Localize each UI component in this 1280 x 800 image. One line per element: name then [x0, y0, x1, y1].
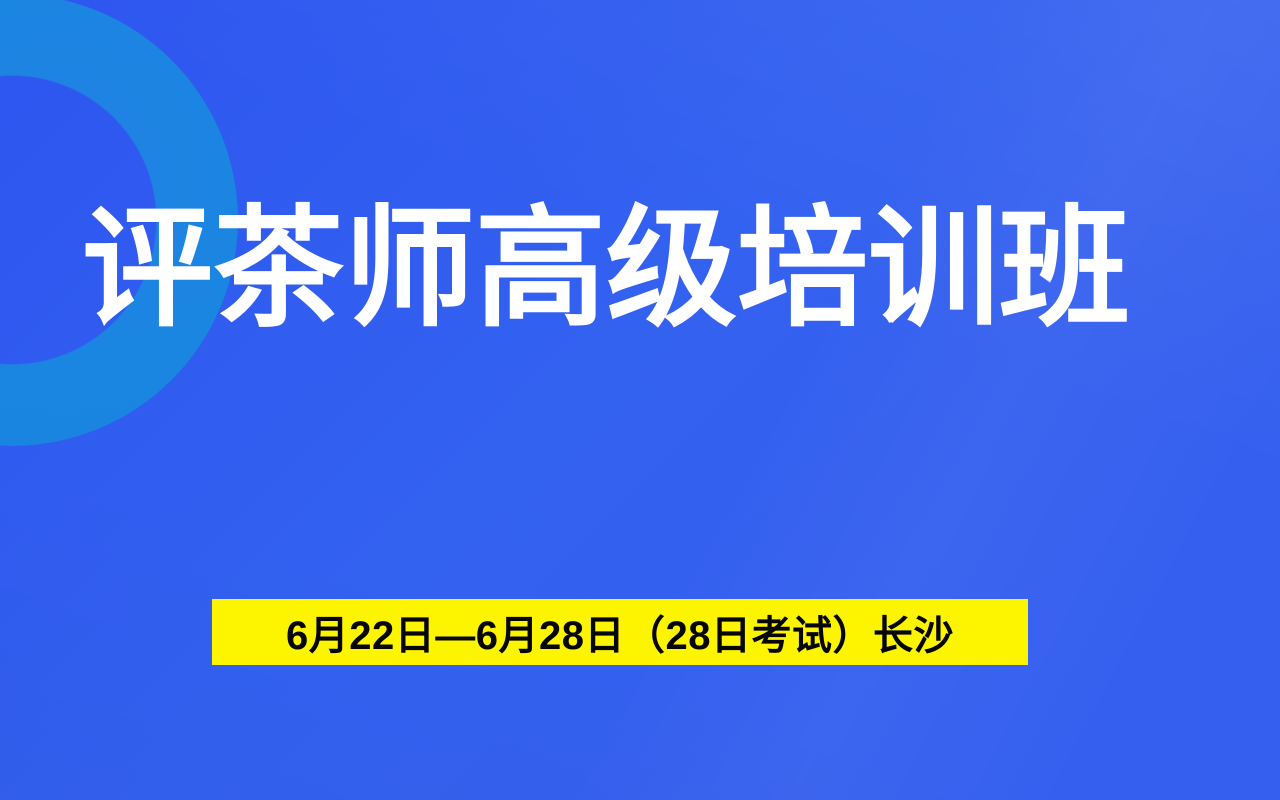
poster-title: 评茶师高级培训班: [82, 196, 1152, 342]
poster-canvas: 评茶师高级培训班 6月22日—6月28日（28日考试）长沙: [0, 0, 1280, 800]
banner-text: 6月22日—6月28日（28日考试）长沙: [286, 603, 954, 661]
date-location-banner: 6月22日—6月28日（28日考试）长沙: [212, 599, 1028, 665]
